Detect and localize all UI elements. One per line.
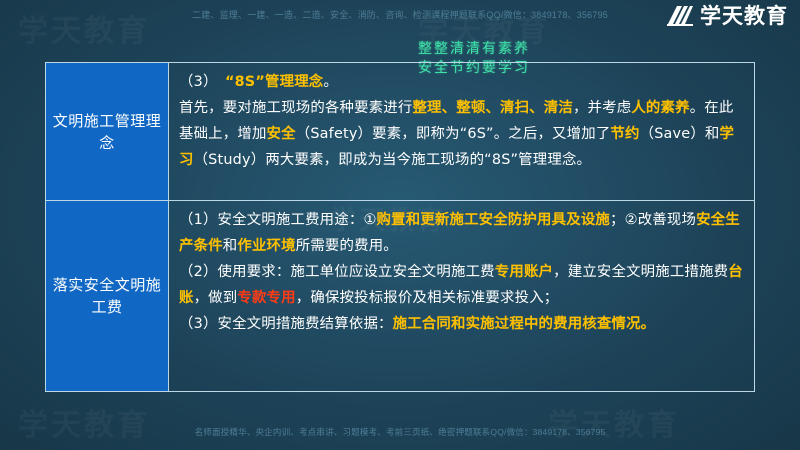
highlighted-text-run: 施工合同和实施过程中的费用核查情况。 (393, 316, 656, 332)
text-run: （Safety）要素，即称为“6S”。之后，又增加了 (296, 126, 611, 142)
row-content-cell: （3） “8S”管理理念。首先，要对施工现场的各种要素进行整理、整顿、清扫、清洁… (169, 63, 754, 200)
text-run: ，确保按投标报价及相关标准要求投入； (296, 290, 559, 306)
text-run: ，建立安全文明施工措施费 (553, 264, 728, 280)
text-run: 首先，要对施工现场的各种要素进行 (179, 100, 412, 116)
text-run: ，并考虑 (573, 100, 631, 116)
highlighted-text-run: 整理、整顿、清扫、清洁 (412, 100, 573, 116)
highlighted-text-run: 安全 (267, 126, 296, 142)
highlighted-text-run: 专用账户 (495, 264, 553, 280)
highlighted-text-run: 专款专用 (237, 290, 295, 306)
text-run: （Save）和 (640, 126, 720, 142)
slanted-lines-icon (665, 4, 695, 28)
text-run: （2）使用要求：施工单位应设立安全文明施工费 (179, 264, 495, 280)
content-paragraph: （3）安全文明措施费结算依据：施工合同和实施过程中的费用核查情况。 (179, 311, 745, 337)
text-run: 和 (223, 238, 238, 254)
text-run: 所需要的费用。 (296, 238, 398, 254)
content-paragraph: （1）安全文明施工费用途：①购置和更新施工安全防护用具及设施；②改善现场安全生产… (179, 207, 745, 259)
slide-header: 二建、监理、一建、一造、二造、安全、消防、咨询、检测课程押题联系QQ/微信：38… (0, 0, 800, 36)
content-paragraph: （2）使用要求：施工单位应设立安全文明施工费专用账户，建立安全文明施工措施费台账… (179, 259, 745, 311)
text-run: （1）安全文明施工费用途：① (179, 212, 377, 228)
row-label-cell: 落实安全文明施工费 (46, 201, 169, 391)
text-run: （3） (179, 74, 210, 90)
highlighted-text-run: 人的素养 (631, 100, 689, 116)
highlighted-text-run: 作业环境 (237, 238, 295, 254)
row-label-cell: 文明施工管理理念 (46, 63, 169, 200)
content-paragraph: 首先，要对施工现场的各种要素进行整理、整顿、清扫、清洁，并考虑人的素养。在此基础… (179, 95, 745, 173)
highlighted-text-run: 节约 (610, 126, 639, 142)
highlighted-text-run: 购置和更新施工安全防护用具及设施 (377, 212, 610, 228)
text-run (210, 74, 225, 90)
row-content-cell: （1）安全文明施工费用途：①购置和更新施工安全防护用具及设施；②改善现场安全生产… (169, 201, 754, 391)
text-run: （Study）两大要素，即成为当今施工现场的“8S”管理理念。 (194, 152, 592, 168)
annotation-line-1: 整整清清有素养 (418, 40, 530, 59)
brand-logo-text: 学天教育 (700, 4, 788, 28)
content-table: 文明施工管理理念 （3） “8S”管理理念。首先，要对施工现场的各种要素进行整理… (45, 62, 755, 392)
brand-logo: 学天教育 (665, 4, 788, 28)
text-run: （3）安全文明措施费结算依据： (179, 316, 393, 332)
highlighted-text-run: “8S”管理理念 (225, 74, 323, 90)
text-run: ；②改善现场 (610, 212, 696, 228)
text-run: 。 (323, 74, 338, 90)
text-run: ，做到 (194, 290, 238, 306)
table-row: 文明施工管理理念 （3） “8S”管理理念。首先，要对施工现场的各种要素进行整理… (46, 63, 754, 201)
footer-promo-text: 名师面授精华、央企内训、考点串讲、习题模考、考前三页纸、绝密押题联系QQ/微信：… (0, 426, 800, 438)
content-paragraph: （3） “8S”管理理念。 (179, 69, 745, 95)
table-row: 落实安全文明施工费 （1）安全文明施工费用途：①购置和更新施工安全防护用具及设施… (46, 201, 754, 391)
